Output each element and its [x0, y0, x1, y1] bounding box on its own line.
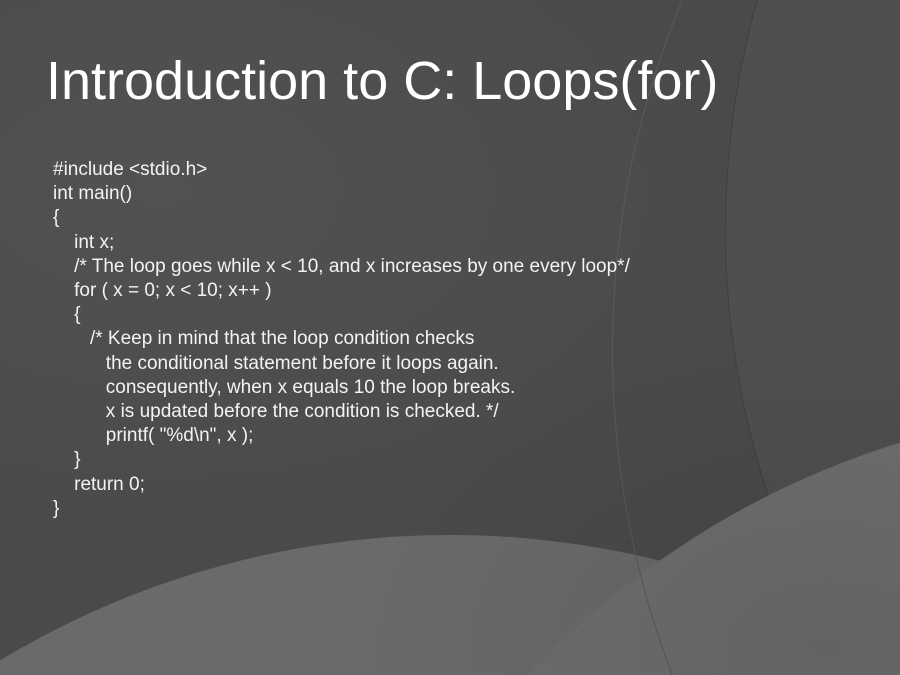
code-line: for ( x = 0; x < 10; x++ ) [53, 279, 853, 303]
presentation-slide: Introduction to C: Loops(for) #include <… [0, 0, 900, 675]
code-line: #include <stdio.h> [53, 158, 853, 182]
code-line: printf( "%d\n", x ); [53, 424, 853, 448]
code-line: x is updated before the condition is che… [53, 400, 853, 424]
code-line: /* The loop goes while x < 10, and x inc… [53, 255, 853, 279]
code-line: } [53, 497, 853, 521]
slide-content: Introduction to C: Loops(for) #include <… [0, 0, 900, 675]
code-line: the conditional statement before it loop… [53, 352, 853, 376]
code-line: int main() [53, 182, 853, 206]
code-line: int x; [53, 231, 853, 255]
code-line: consequently, when x equals 10 the loop … [53, 376, 853, 400]
code-line: /* Keep in mind that the loop condition … [53, 327, 853, 351]
code-line: } [53, 448, 853, 472]
slide-title: Introduction to C: Loops(for) [46, 50, 866, 112]
code-line: { [53, 206, 853, 230]
code-listing: #include <stdio.h>int main(){ int x; /* … [53, 158, 853, 521]
code-line: { [53, 303, 853, 327]
code-line: return 0; [53, 473, 853, 497]
